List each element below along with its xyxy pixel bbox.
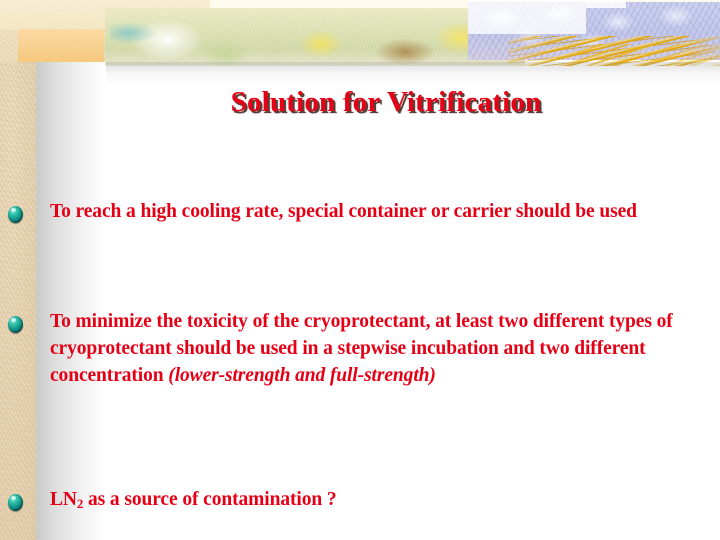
bullet-2-text: To minimize the toxicity of the cryoprot… <box>50 308 690 389</box>
slide-body: To reach a high cooling rate, special co… <box>0 186 720 540</box>
banner-foliage-image <box>105 8 525 66</box>
bullet-gem-icon <box>8 316 23 333</box>
page-title: Solution for Vitrification <box>106 84 666 120</box>
bullet-3-text: LN2 as a source of contamination ? <box>50 486 690 518</box>
banner-teal-accent <box>110 22 156 44</box>
bullet-gem-icon <box>8 206 23 223</box>
bullet-gem-icon <box>8 494 23 511</box>
list-item: To minimize the toxicity of the cryoprot… <box>0 308 720 389</box>
banner-peach-band <box>18 29 104 62</box>
bullet-2-emphasis: (lower-strength and full-strength) <box>168 365 435 386</box>
bullet-3-prefix: LN <box>50 489 77 510</box>
bullet-1-text: To reach a high cooling rate, special co… <box>50 198 690 225</box>
list-item: To reach a high cooling rate, special co… <box>0 198 720 225</box>
bullet-3-suffix: as a source of contamination ? <box>83 489 336 510</box>
presentation-slide: Solution for Vitrification To reach a hi… <box>0 0 720 540</box>
banner-white-overlay-small <box>586 0 626 8</box>
list-item: LN2 as a source of contamination ? <box>0 486 720 518</box>
bullet-1-main: To reach a high cooling rate, special co… <box>50 201 637 222</box>
banner-white-overlay <box>468 0 586 34</box>
